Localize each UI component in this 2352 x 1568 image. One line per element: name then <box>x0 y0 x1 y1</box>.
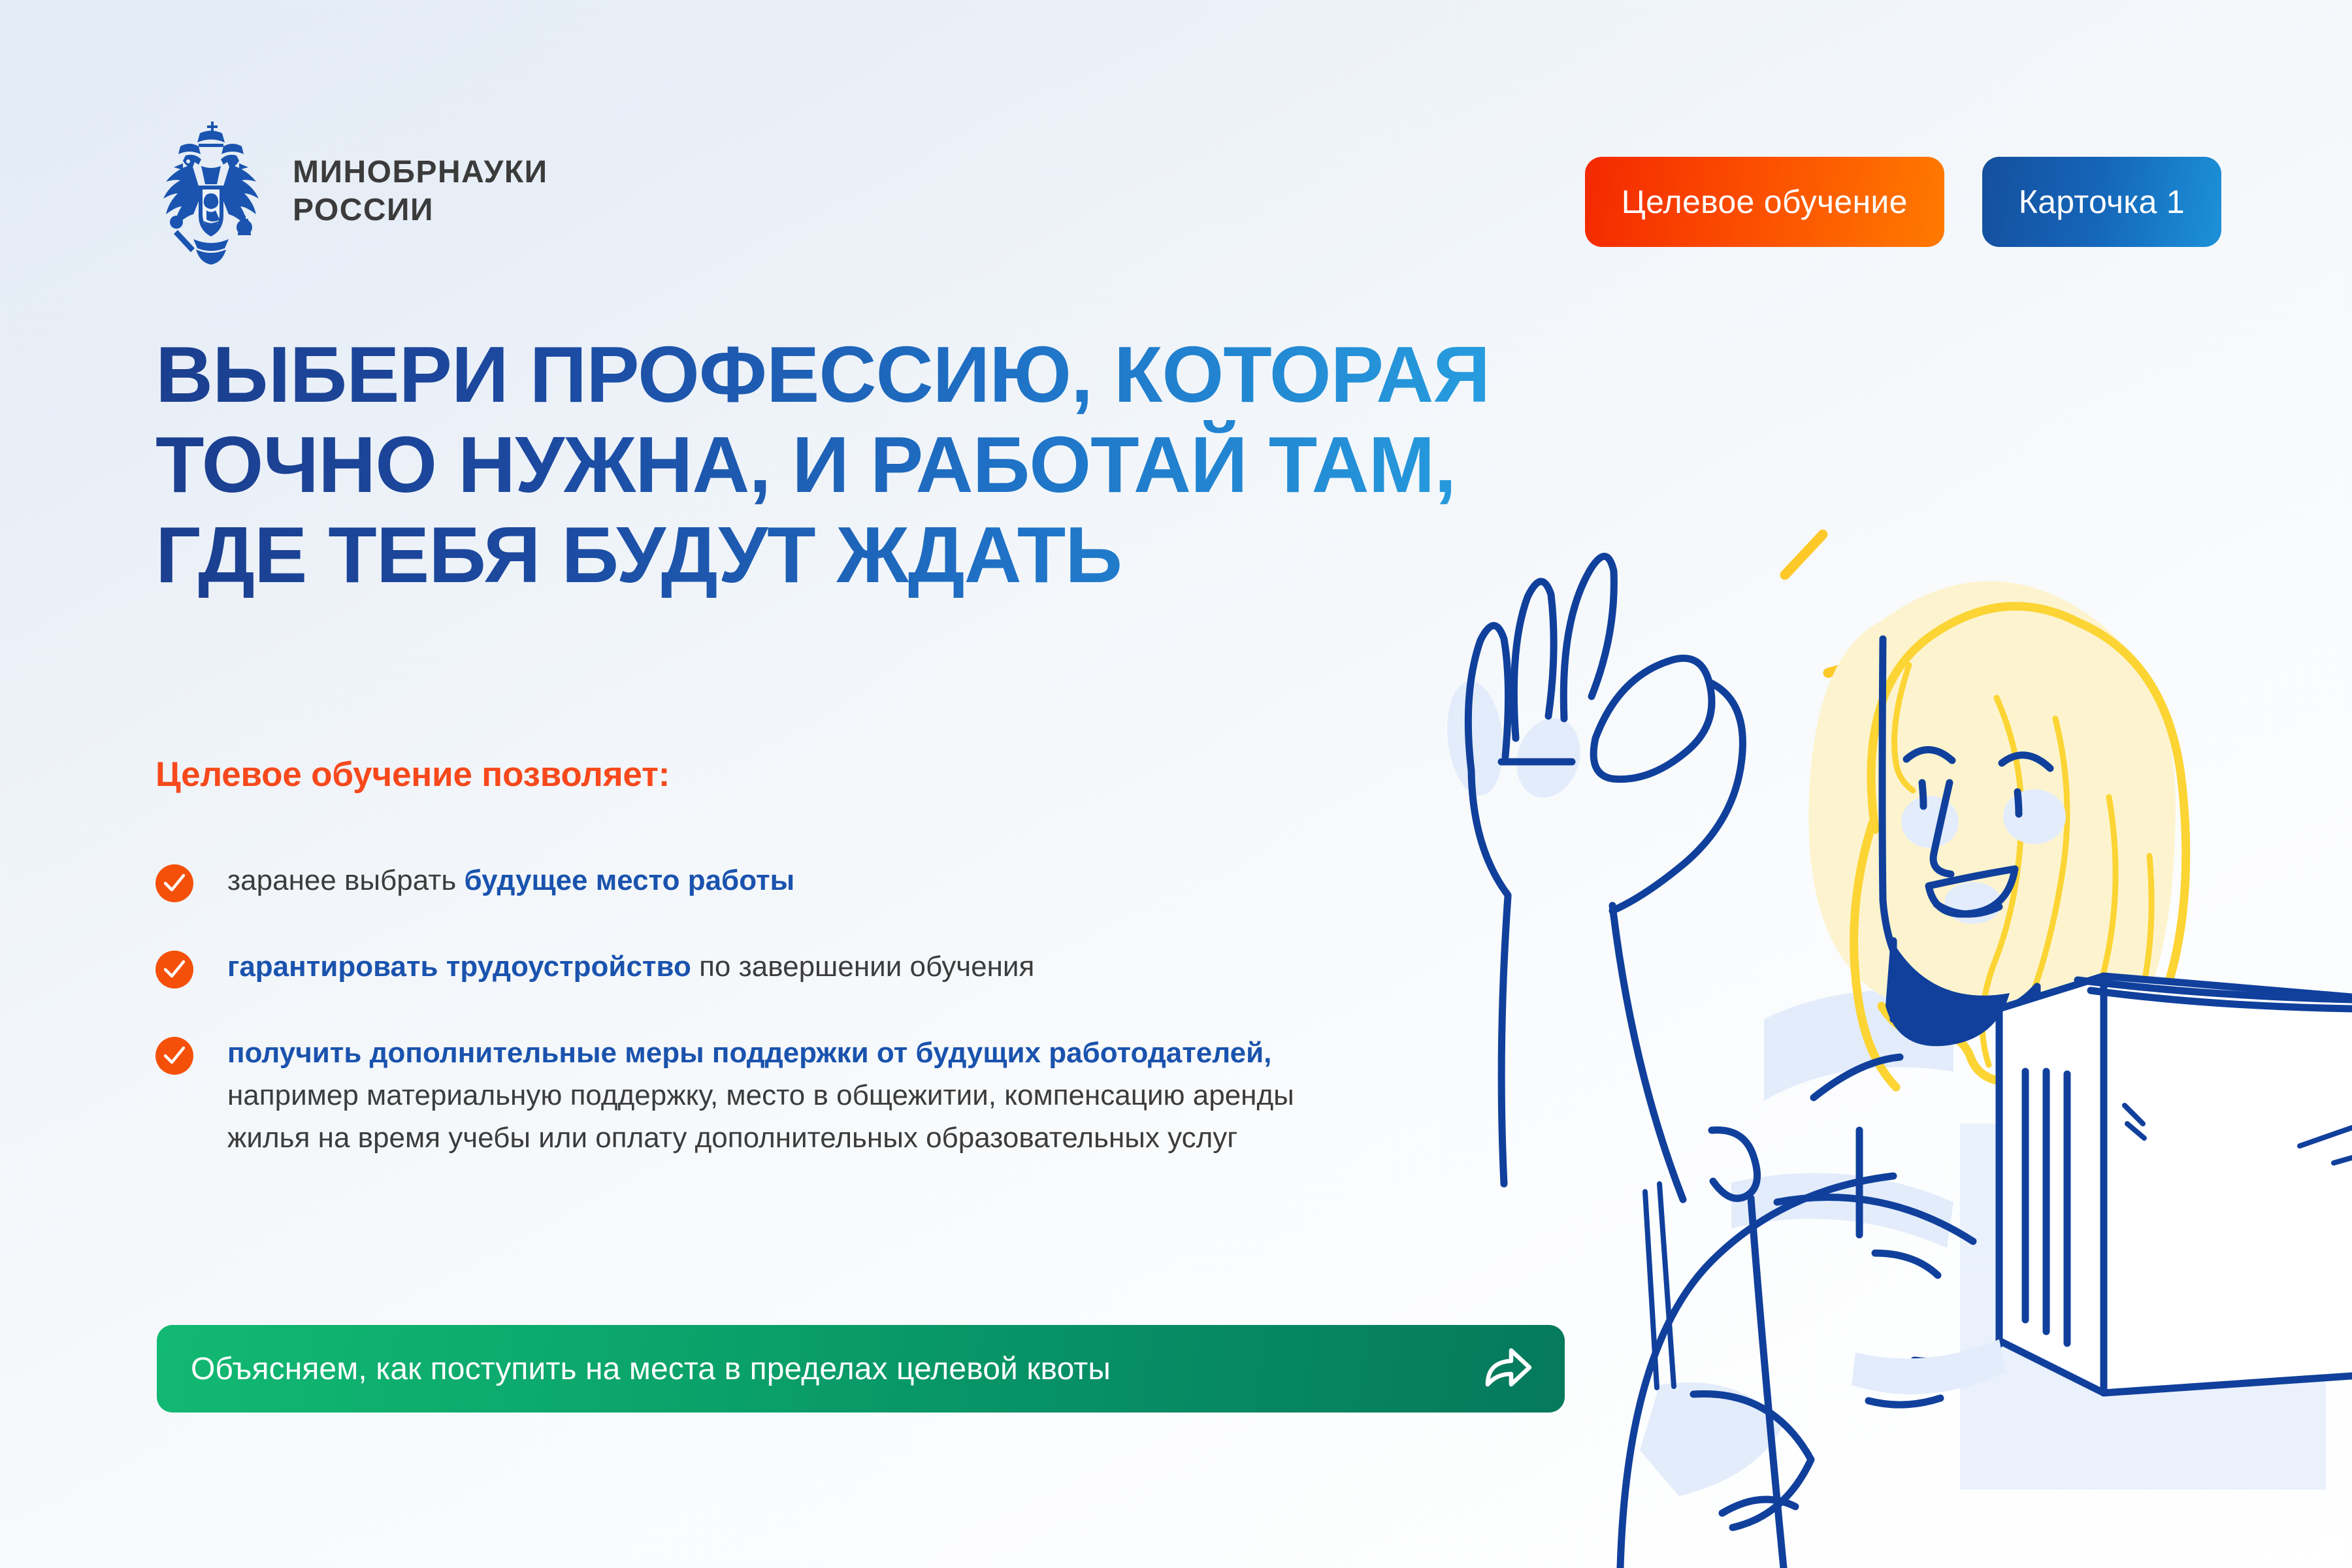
bullet-3-plain-2: например материальную поддержку, место в… <box>227 1079 1294 1154</box>
bullet-2-plain-2: по завершении обучения <box>691 951 1034 983</box>
list-item: заранее выбрать будущее место работы <box>155 859 1345 902</box>
badge-card-number[interactable]: Карточка 1 <box>1982 157 2221 247</box>
russian-double-headed-eagle-emblem-icon <box>155 118 267 265</box>
bullet-3-bold: получить дополнительные меры поддержки о… <box>227 1037 1271 1069</box>
check-circle-icon <box>155 1037 193 1075</box>
ministry-name-line1: МИНОБРНАУКИ <box>293 155 548 189</box>
list-item-text: гарантировать трудоустройство по заверше… <box>227 945 1034 988</box>
bullet-2-bold: гарантировать трудоустройство <box>227 951 691 983</box>
woman-holding-box-ok-gesture-illustration: .ln { fill:none; stroke:#10409c; stroke-… <box>1424 523 2352 1568</box>
list-item: получить дополнительные меры поддержки о… <box>155 1032 1345 1159</box>
badge-topic[interactable]: Целевое обучение <box>1585 157 1944 247</box>
list-item-text: заранее выбрать будущее место работы <box>227 859 794 902</box>
check-circle-icon <box>155 864 193 902</box>
cta-label: Объясняем, как поступить на места в пред… <box>191 1351 1111 1387</box>
benefits-list: заранее выбрать будущее место работы гар… <box>155 859 1345 1159</box>
share-arrow-icon[interactable] <box>1482 1345 1533 1393</box>
page-header: МИНОБРНАУКИ РОССИИ Целевое обучение Карт… <box>0 0 2352 274</box>
cta-banner[interactable]: Объясняем, как поступить на места в пред… <box>157 1325 1565 1413</box>
list-item: гарантировать трудоустройство по заверше… <box>155 945 1345 988</box>
section-subtitle: Целевое обучение позволяет: <box>155 755 670 794</box>
bullet-1-bold: будущее место работы <box>465 864 795 896</box>
header-badges: Целевое обучение Карточка 1 <box>1585 157 2221 247</box>
headline-line-1: ВЫБЕРИ ПРОФЕССИЮ, КОТОРАЯ <box>155 330 1527 420</box>
list-item-text: получить дополнительные меры поддержки о… <box>227 1032 1345 1159</box>
bullet-1-plain-1: заранее выбрать <box>227 864 465 896</box>
headline-line-2: ТОЧНО НУЖНА, И РАБОТАЙ ТАМ, <box>155 420 1527 510</box>
check-circle-icon <box>155 951 193 988</box>
page-title: ВЫБЕРИ ПРОФЕССИЮ, КОТОРАЯ ТОЧНО НУЖНА, И… <box>155 330 1527 600</box>
ministry-logo: МИНОБРНАУКИ РОССИИ <box>155 118 548 265</box>
ministry-name: МИНОБРНАУКИ РОССИИ <box>293 154 548 229</box>
headline-line-3: ГДЕ ТЕБЯ БУДУТ ЖДАТЬ <box>155 510 1527 600</box>
ministry-name-line2: РОССИИ <box>293 191 548 229</box>
